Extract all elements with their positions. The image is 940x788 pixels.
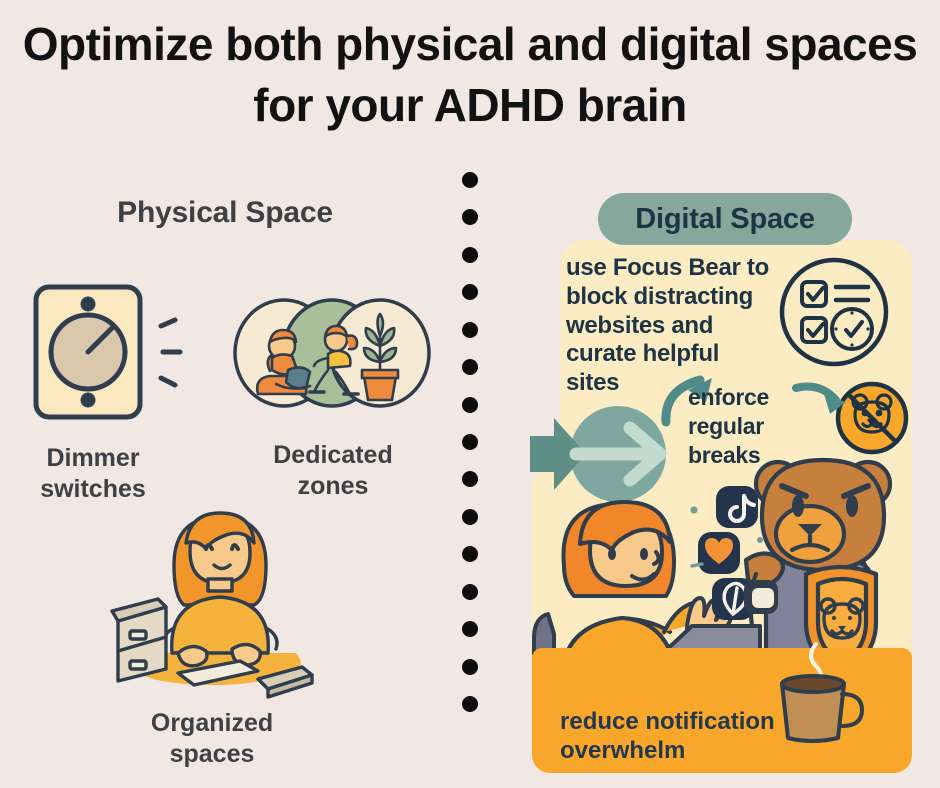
divider-dot: [462, 284, 478, 300]
bear-knight-shield-icon: [748, 452, 920, 667]
physical-space-heading: Physical Space: [60, 196, 390, 230]
divider-dot: [462, 621, 478, 637]
text-reduce-notification: reduce notification overwhelm: [560, 707, 870, 766]
dedicated-zones-icon: [232, 296, 432, 411]
page-title: Optimize both physical and digital space…: [0, 14, 940, 135]
title-line-2: for your ADHD brain: [0, 75, 940, 136]
divider-dot: [462, 546, 478, 562]
checklist-clock-icon: [778, 258, 890, 366]
curved-arrow-right-icon: [794, 378, 852, 418]
divider-dot: [462, 209, 478, 225]
label-organized-spaces: Organized spaces: [92, 708, 332, 771]
dotted-divider: [462, 172, 482, 712]
divider-dot: [462, 172, 478, 188]
divider-dot: [462, 584, 478, 600]
divider-dot: [462, 471, 478, 487]
heart-icon: [698, 532, 740, 574]
divider-dot: [462, 397, 478, 413]
label-dimmer-switches: Dimmer switches: [0, 443, 186, 506]
divider-dot: [462, 322, 478, 338]
organized-desk-icon: [112, 503, 322, 703]
arrow-right-circle-icon: [518, 404, 680, 504]
divider-dot: [462, 509, 478, 525]
dimmer-switch-icon: [30, 282, 190, 424]
divider-dot: [462, 247, 478, 263]
divider-dot: [462, 434, 478, 450]
digital-space-heading: Digital Space: [598, 193, 852, 245]
divider-dot: [462, 659, 478, 675]
divider-dot: [462, 359, 478, 375]
label-dedicated-zones: Dedicated zones: [236, 440, 430, 503]
title-line-1: Optimize both physical and digital space…: [23, 18, 918, 70]
text-focus-bear: use Focus Bear to block distracting webs…: [566, 254, 776, 398]
divider-dot: [462, 696, 478, 712]
infographic-canvas: Optimize both physical and digital space…: [0, 0, 940, 788]
